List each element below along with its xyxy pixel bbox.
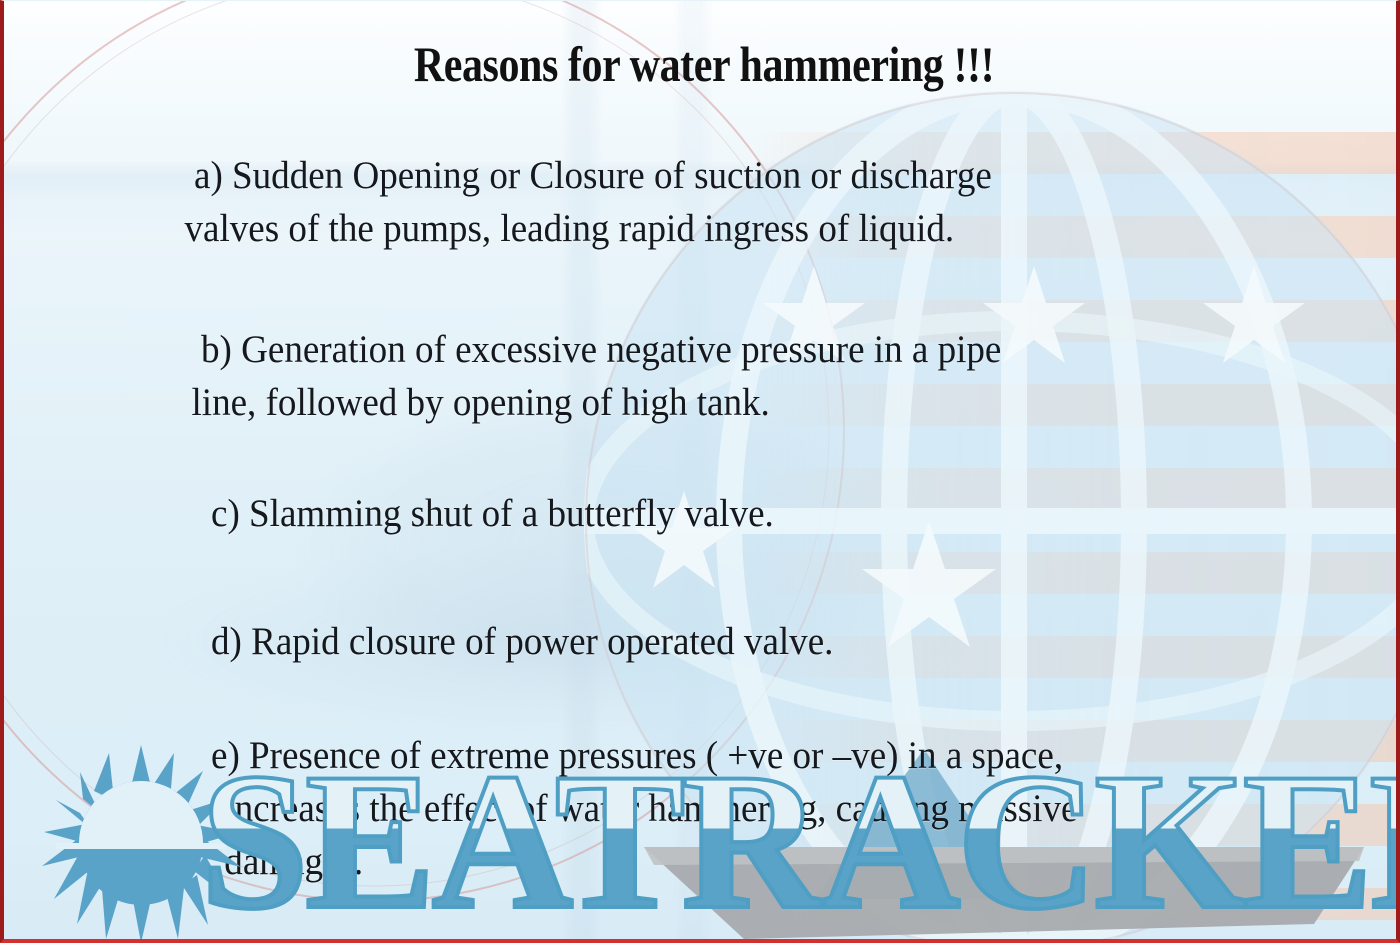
presentation-slide: Reasons for water hammering !!! a) Sudde…	[0, 0, 1400, 943]
bullet-a-line-1: a) Sudden Opening or Closure of suction …	[194, 149, 992, 202]
bullet-e-line-2: increases the effect of water hammering,…	[224, 782, 1077, 835]
bullet-item-b: b) Generation of excessive negative pres…	[201, 323, 1001, 429]
bullet-item-d: d) Rapid closure of power operated valve…	[211, 615, 833, 668]
bullet-e-line-3: damages.	[224, 835, 1077, 888]
bullet-c-line-1: c) Slamming shut of a butterfly valve.	[211, 487, 774, 540]
bullet-b-line-1: b) Generation of excessive negative pres…	[201, 323, 1001, 376]
bullet-b-line-2: line, followed by opening of high tank.	[192, 376, 1002, 429]
bullet-d-line-1: d) Rapid closure of power operated valve…	[211, 615, 833, 668]
bullet-item-c: c) Slamming shut of a butterfly valve.	[211, 487, 774, 540]
slide-title: Reasons for water hammering !!!	[116, 35, 1292, 93]
bullet-e-line-1: e) Presence of extreme pressures ( +ve o…	[211, 729, 1077, 782]
bullet-a-line-2: valves of the pumps, leading rapid ingre…	[185, 202, 992, 255]
bullet-item-a: a) Sudden Opening or Closure of suction …	[194, 149, 992, 255]
bullet-item-e: e) Presence of extreme pressures ( +ve o…	[211, 729, 1077, 888]
